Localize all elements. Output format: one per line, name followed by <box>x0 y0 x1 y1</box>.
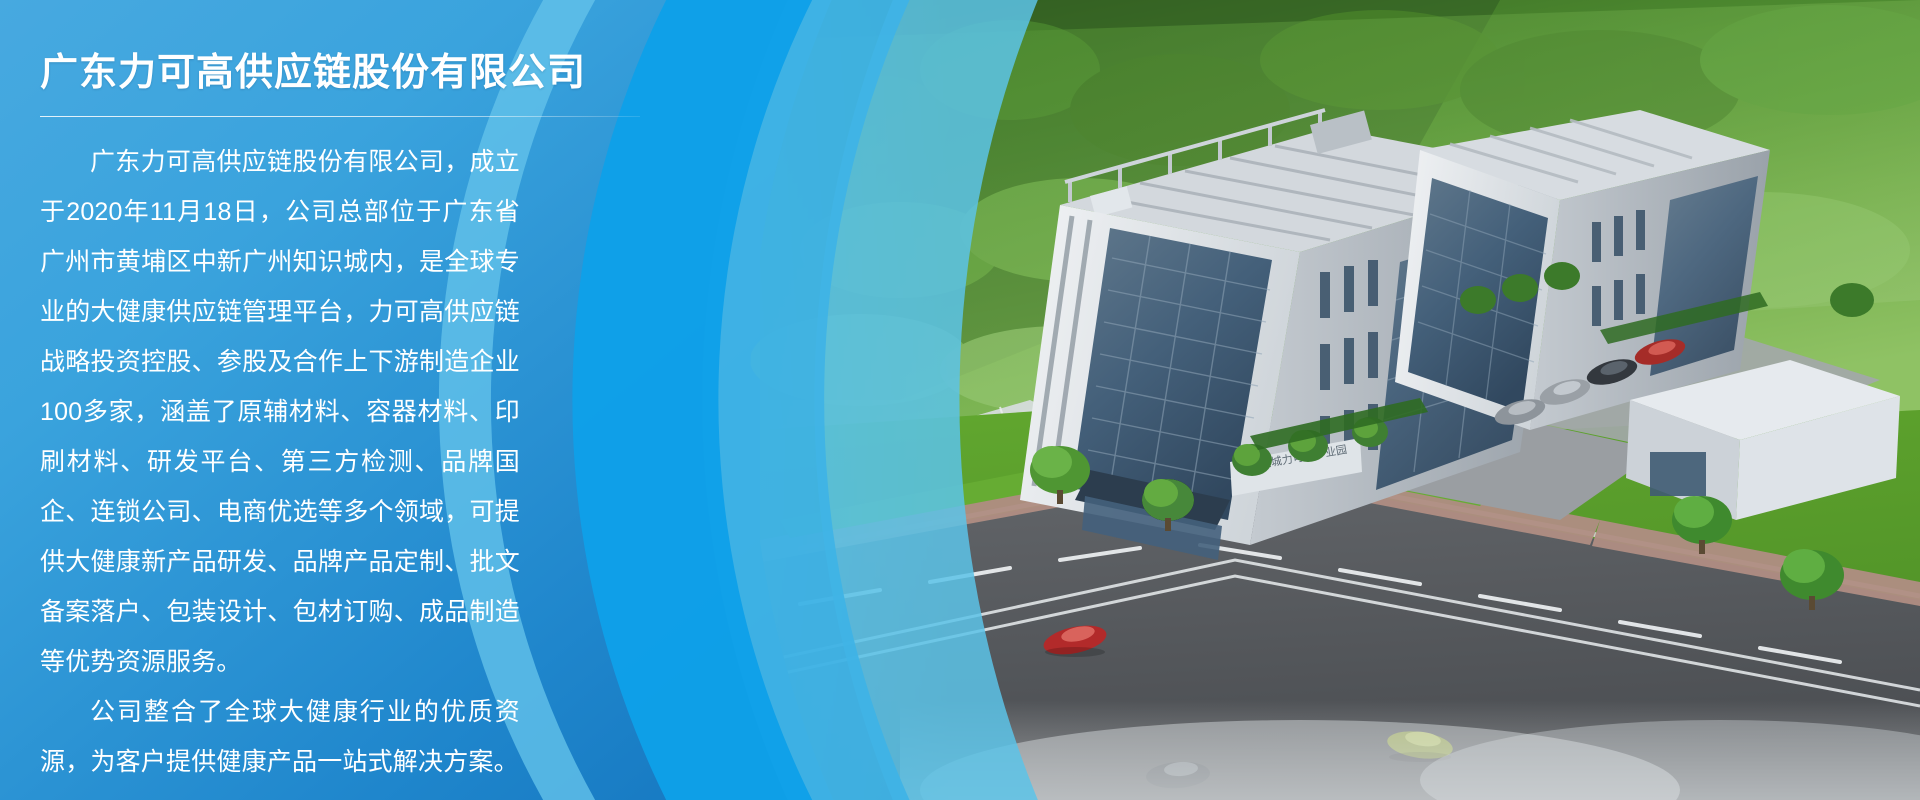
intro-paragraph-2: 公司整合了全球大健康行业的优质资源，为客户提供健康产品一站式解决方案。 <box>40 687 520 787</box>
company-intro-banner: 知识城力可高产业园 <box>0 0 1920 800</box>
title-divider <box>40 116 640 117</box>
intro-paragraph-1: 广东力可高供应链股份有限公司，成立于2020年11月18日，公司总部位于广东省广… <box>40 137 520 687</box>
intro-text-column: 广东力可高供应链股份有限公司 广东力可高供应链股份有限公司，成立于2020年11… <box>40 50 640 787</box>
page-title: 广东力可高供应链股份有限公司 <box>40 50 640 98</box>
intro-body: 广东力可高供应链股份有限公司，成立于2020年11月18日，公司总部位于广东省广… <box>40 137 520 787</box>
